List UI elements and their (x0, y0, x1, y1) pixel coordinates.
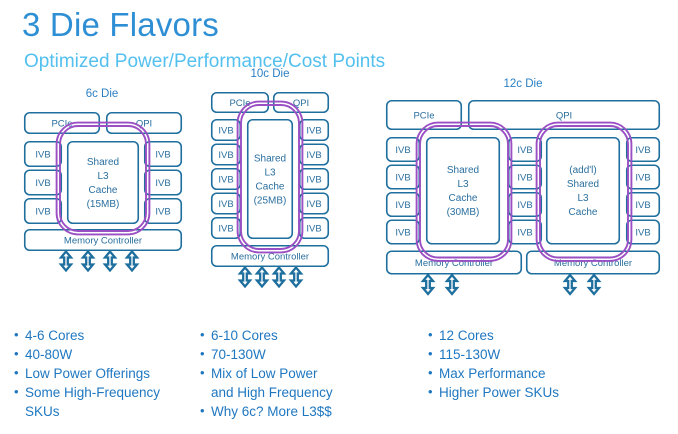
core-right-10c-3-label: IVB (306, 199, 321, 210)
memory-controller-6c-0-label: Memory Controller (64, 235, 142, 246)
cache-10c-0-line-1: L3 (264, 167, 276, 178)
cache-10c-0-line-3: (25MB) (254, 195, 287, 206)
cache-12c-0-line-2: Cache (449, 193, 478, 204)
memory-arrow-6c-0 (61, 252, 71, 271)
cache-12c-0-box (427, 138, 500, 244)
cache-12c-1-line-1: Shared (567, 179, 599, 190)
page-title: 3 Die Flavors (22, 8, 219, 41)
memory-arrow-12c-0 (423, 275, 433, 294)
bullet-item: Why 6c? More L3$$ (200, 403, 390, 422)
pcie-block-10c-label: PCIe (229, 98, 250, 109)
bullet-item: 70-130W (200, 346, 390, 365)
cache-6c-0-line-3: (15MB) (87, 199, 120, 210)
bullet-item: Mix of Low Power and High Frequency (200, 365, 390, 402)
core-left-12c-3-label: IVB (395, 227, 410, 238)
bullet-items-12c: 12 Cores115-130WMax PerformanceHigher Po… (428, 327, 658, 403)
cache-6c-0-box (68, 142, 139, 224)
core-mid-12c-0-label: IVB (517, 145, 532, 156)
cache-12c-0-line-3: (30MB) (447, 207, 480, 218)
core-left-10c-3-label: IVB (218, 199, 233, 210)
core-right-12c-3-label: IVB (635, 227, 650, 238)
core-right-10c-4-label: IVB (306, 223, 321, 234)
die-diagram-10c: 10c Die PCIeQPIIVBIVBIVBIVBIVBIVBIVBIVBI… (205, 68, 335, 323)
core-right-6c-2-label: IVB (155, 206, 170, 217)
core-right-6c-0-label: IVB (155, 149, 170, 160)
core-right-12c-2-label: IVB (635, 200, 650, 211)
die-diagram-6c: 6c Die PCIeQPIIVBIVBIVBIVBIVBIVBSharedL3… (16, 88, 188, 303)
memory-arrow-10c-3 (291, 268, 301, 287)
core-right-6c-1-label: IVB (155, 178, 170, 189)
bullet-items-6c: 4-6 Cores40-80WLow Power OfferingsSome H… (14, 327, 200, 421)
core-left-10c-4-label: IVB (218, 223, 233, 234)
cache-12c-1-line-0: (add'l) (569, 165, 596, 176)
pcie-block-12c-label: PCIe (413, 110, 434, 121)
bullet-item: Max Performance (428, 365, 658, 384)
core-right-10c-1-label: IVB (306, 150, 321, 161)
bullet-list-10c: 6-10 Cores70-130WMix of Low Power and Hi… (200, 327, 390, 422)
core-left-10c-2-label: IVB (218, 174, 233, 185)
core-left-12c-1-label: IVB (395, 172, 410, 183)
core-right-12c-1-label: IVB (635, 172, 650, 183)
bullet-item: 6-10 Cores (200, 327, 390, 346)
bullet-item: Low Power Offerings (14, 365, 200, 384)
memory-arrow-12c-1 (447, 275, 457, 294)
core-mid-12c-1-label: IVB (517, 172, 532, 183)
core-left-6c-1-label: IVB (35, 178, 50, 189)
cache-6c-0-line-2: Cache (89, 185, 118, 196)
memory-arrow-6c-1 (83, 252, 93, 271)
cache-6c-0-line-1: L3 (97, 171, 109, 182)
memory-arrow-10c-1 (257, 268, 267, 287)
cache-10c-0-line-0: Shared (254, 153, 286, 164)
core-left-10c-1-label: IVB (218, 150, 233, 161)
memory-arrow-6c-3 (127, 252, 137, 271)
cache-12c-0-line-1: L3 (457, 179, 469, 190)
core-left-12c-2-label: IVB (395, 200, 410, 211)
memory-controller-12c-1-label: Memory Controller (554, 258, 632, 269)
cache-10c-0-line-2: Cache (256, 181, 285, 192)
memory-arrow-12c-2 (565, 275, 575, 294)
core-left-10c-0-label: IVB (218, 125, 233, 136)
core-mid-12c-3-label: IVB (517, 227, 532, 238)
bullet-item: Higher Power SKUs (428, 384, 658, 403)
core-mid-12c-2-label: IVB (517, 200, 532, 211)
core-right-10c-0-label: IVB (306, 125, 321, 136)
memory-arrow-6c-2 (105, 252, 115, 271)
bullet-item: 4-6 Cores (14, 327, 200, 346)
core-right-10c-2-label: IVB (306, 174, 321, 185)
qpi-block-12c-label: QPI (556, 110, 572, 121)
core-left-6c-2-label: IVB (35, 206, 50, 217)
bullet-item: Some High-Frequency SKUs (14, 384, 200, 421)
die-svg-10c: PCIeQPIIVBIVBIVBIVBIVBIVBIVBIVBIVBIVBSha… (205, 68, 335, 323)
memory-controller-12c-0-label: Memory Controller (415, 258, 493, 269)
cache-12c-1-line-3: Cache (569, 207, 598, 218)
cache-12c-0-line-0: Shared (447, 165, 479, 176)
core-left-6c-0-label: IVB (35, 149, 50, 160)
cache-12c-1-box (547, 138, 620, 244)
cache-10c-0-box (248, 120, 293, 239)
core-left-12c-0-label: IVB (395, 145, 410, 156)
core-right-12c-0-label: IVB (635, 145, 650, 156)
bullet-item: 40-80W (14, 346, 200, 365)
bullet-list-12c: 12 Cores115-130WMax PerformanceHigher Po… (428, 327, 658, 403)
bullet-list-6c: 4-6 Cores40-80WLow Power OfferingsSome H… (14, 327, 200, 422)
cache-12c-1-line-2: L3 (577, 193, 589, 204)
bullet-items-10c: 6-10 Cores70-130WMix of Low Power and Hi… (200, 327, 390, 421)
slide-root: 3 Die Flavors Optimized Power/Performanc… (0, 0, 678, 434)
die-diagram-12c: 12c Die PCIeQPIIVBIVBIVBIVBIVBIVBIVBIVBI… (378, 78, 668, 318)
memory-arrow-12c-3 (589, 275, 599, 294)
memory-arrow-10c-2 (274, 268, 284, 287)
bullet-item: 115-130W (428, 346, 658, 365)
cache-6c-0-line-0: Shared (87, 157, 119, 168)
bullet-item: 12 Cores (428, 327, 658, 346)
memory-arrow-10c-0 (240, 268, 250, 287)
die-svg-12c: PCIeQPIIVBIVBIVBIVBIVBIVBIVBIVBIVBIVBIVB… (378, 78, 668, 318)
qpi-block-6c-label: QPI (136, 118, 152, 129)
die-svg-6c: PCIeQPIIVBIVBIVBIVBIVBIVBSharedL3Cache(1… (16, 88, 188, 303)
